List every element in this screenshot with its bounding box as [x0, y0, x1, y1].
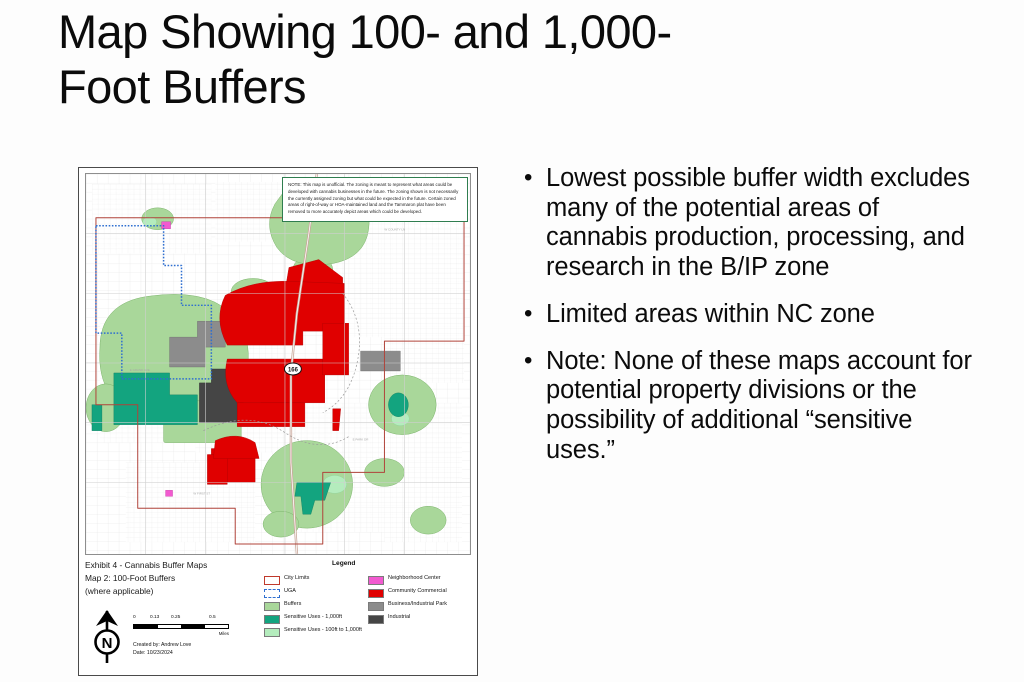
legend-label-sensitive-1000: Sensitive Uses - 1,000ft — [284, 614, 342, 621]
legend-item-sensitive-100: Sensitive Uses - 100ft to 1,000ft — [264, 627, 362, 637]
legend-column-left: City Limits UGA Buffers Sensitive Uses -… — [264, 575, 362, 637]
bullet-text: Limited areas within NC zone — [546, 300, 875, 330]
legend-swatch-sensitive-1000 — [264, 615, 280, 624]
legend-swatch-city-limits — [264, 576, 280, 585]
legend-label-community-commercial: Community Commercial — [388, 588, 447, 595]
slide-canvas: Map Showing 100- and 1,000- Foot Buffers — [0, 0, 1024, 682]
svg-text:N: N — [102, 635, 113, 652]
svg-text:W COUNTY LN: W COUNTY LN — [384, 228, 405, 232]
scalebar-ticks: 0 0.13 0.25 0.5 — [133, 615, 253, 624]
map-graphic: 166 W COUNTY LN E GRAND AVE W FIRST ST E… — [86, 174, 470, 554]
map-figure[interactable]: 166 W COUNTY LN E GRAND AVE W FIRST ST E… — [78, 167, 478, 676]
legend-swatch-buffers — [264, 602, 280, 611]
scalebar-unit: Miles — [219, 631, 229, 636]
scalebar-tick-3: 0.5 — [209, 615, 216, 620]
map-legend: City Limits UGA Buffers Sensitive Uses -… — [264, 575, 476, 637]
scalebar-graphic: Miles — [133, 624, 229, 629]
legend-item-city-limits: City Limits — [264, 575, 362, 585]
legend-label-buffers: Buffers — [284, 601, 301, 608]
legend-column-right: Neighborhood Center Community Commercial… — [368, 575, 476, 637]
map-credit: Created by: Andrew Love Date: 10/23/2024 — [133, 641, 191, 658]
legend-item-neighborhood-center: Neighborhood Center — [368, 575, 476, 585]
bullet-text: Note: None of these maps account for pot… — [546, 347, 982, 466]
legend-label-uga: UGA — [284, 588, 296, 595]
bullet-item: • Note: None of these maps account for p… — [520, 347, 982, 466]
legend-label-city-limits: City Limits — [284, 575, 309, 582]
svg-text:W FIRST ST: W FIRST ST — [193, 491, 210, 495]
legend-label-sensitive-100: Sensitive Uses - 100ft to 1,000ft — [284, 627, 362, 634]
highway-shield-marker: 166 — [284, 363, 301, 375]
legend-item-business-industrial-park: Business/Industrial Park — [368, 601, 476, 611]
legend-swatch-business-industrial-park — [368, 602, 384, 611]
map-canvas[interactable]: 166 W COUNTY LN E GRAND AVE W FIRST ST E… — [85, 173, 471, 555]
bullet-list: • Lowest possible buffer width excludes … — [520, 164, 982, 482]
legend-item-community-commercial: Community Commercial — [368, 588, 476, 598]
legend-label-neighborhood-center: Neighborhood Center — [388, 575, 441, 582]
svg-text:E GRAND AVE: E GRAND AVE — [130, 368, 150, 372]
bullet-item: • Limited areas within NC zone — [520, 300, 982, 330]
legend-item-industrial: Industrial — [368, 614, 476, 624]
svg-text:166: 166 — [288, 368, 299, 374]
legend-swatch-industrial — [368, 615, 384, 624]
legend-item-sensitive-1000: Sensitive Uses - 1,000ft — [264, 614, 362, 624]
legend-item-buffers: Buffers — [264, 601, 362, 611]
legend-title: Legend — [332, 560, 355, 567]
svg-text:E PARK DR: E PARK DR — [353, 438, 369, 442]
bullet-text: Lowest possible buffer width excludes ma… — [546, 164, 982, 283]
scalebar-tick-1: 0.13 — [150, 615, 159, 620]
map-caption-area: Exhibit 4 - Cannabis Buffer Maps Map 2: … — [79, 557, 478, 675]
page-title: Map Showing 100- and 1,000- Foot Buffers — [58, 4, 938, 115]
bullet-marker-icon: • — [520, 347, 546, 375]
map-scalebar: 0 0.13 0.25 0.5 Miles — [133, 615, 253, 629]
legend-swatch-uga — [264, 589, 280, 598]
exhibit-caption: Exhibit 4 - Cannabis Buffer Maps Map 2: … — [85, 559, 207, 598]
legend-label-industrial: Industrial — [388, 614, 410, 621]
legend-swatch-community-commercial — [368, 589, 384, 598]
legend-item-uga: UGA — [264, 588, 362, 598]
scalebar-tick-0: 0 — [133, 615, 136, 620]
map-note-box: NOTE: This map is unofficial. The zoning… — [282, 177, 468, 222]
bullet-item: • Lowest possible buffer width excludes … — [520, 164, 982, 283]
bullet-marker-icon: • — [520, 164, 546, 192]
scalebar-tick-2: 0.25 — [171, 615, 180, 620]
north-arrow-icon: N — [87, 609, 127, 665]
legend-swatch-sensitive-100 — [264, 628, 280, 637]
legend-swatch-neighborhood-center — [368, 576, 384, 585]
legend-label-business-industrial-park: Business/Industrial Park — [388, 601, 447, 608]
bullet-marker-icon: • — [520, 300, 546, 328]
